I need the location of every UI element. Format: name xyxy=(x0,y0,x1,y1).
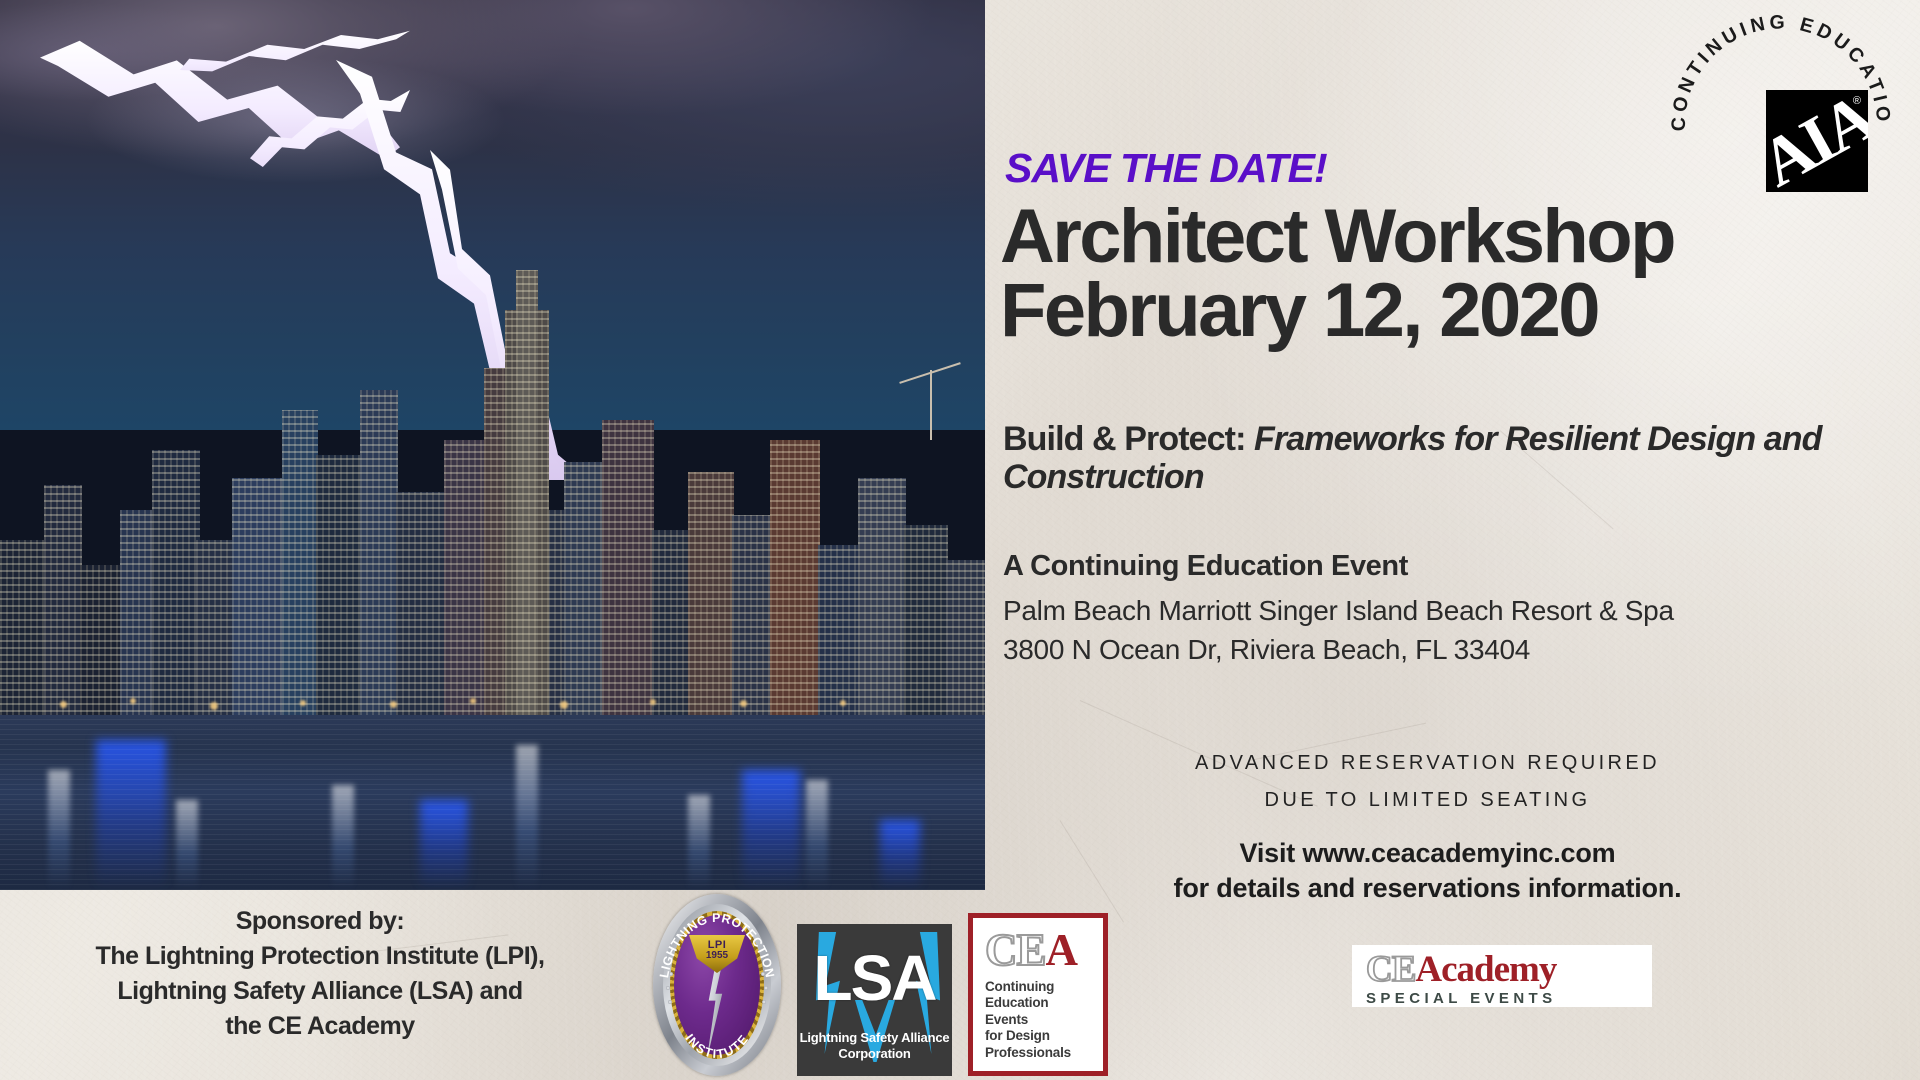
lpi-dot-decoration xyxy=(653,894,781,1076)
event-details-column: SAVE THE DATE! Architect Workshop Februa… xyxy=(1000,0,1880,890)
water-reflection xyxy=(0,715,985,890)
sponsor-line-2: Lightning Safety Alliance (LSA) and xyxy=(0,974,640,1009)
lsa-mark: LSA xyxy=(797,946,952,1010)
lsa-sub-line-2: Corporation xyxy=(797,1046,952,1062)
venue-name: Palm Beach Marriott Singer Island Beach … xyxy=(1003,592,1674,631)
reservation-notice: ADVANCED RESERVATION REQUIRED DUE TO LIM… xyxy=(1000,745,1855,819)
sponsor-line-1: The Lightning Protection Institute (LPI)… xyxy=(0,939,640,974)
lsa-logo: LSA Lightning Safety Alliance Corporatio… xyxy=(797,924,952,1076)
website-link[interactable]: Visit www.ceacademyinc.com xyxy=(1000,836,1855,871)
title-line-1: Architect Workshop xyxy=(1000,194,1674,279)
flyer-canvas: CONTINUING EDUCATION AIA ® SAVE THE DATE… xyxy=(0,0,1920,1080)
cea-sub-line-3: for Design xyxy=(985,1028,1093,1044)
ce-academy-tagline: SPECIAL EVENTS xyxy=(1366,990,1642,1007)
cea-mark-outline: CE xyxy=(985,925,1046,975)
save-the-date-eyebrow: SAVE THE DATE! xyxy=(1005,145,1327,192)
cea-sub-line-1: Continuing xyxy=(985,979,1093,995)
venue-address: 3800 N Ocean Dr, Riviera Beach, FL 33404 xyxy=(1003,631,1674,670)
sponsor-heading: Sponsored by: xyxy=(0,904,640,939)
ce-academy-mark-outline: CE xyxy=(1366,949,1415,990)
workshop-subtitle: Build & Protect: Frameworks for Resilien… xyxy=(1003,420,1863,496)
sponsor-line-3: the CE Academy xyxy=(0,1009,640,1044)
cea-sublabel: Continuing Education Events for Design P… xyxy=(985,979,1093,1061)
title-line-2: February 12, 2020 xyxy=(1000,274,1900,348)
lsa-sublabel: Lightning Safety Alliance Corporation xyxy=(797,1030,952,1063)
cea-mark: CEA xyxy=(985,928,1093,973)
event-type-label: A Continuing Education Event xyxy=(1003,550,1408,583)
lsa-sub-line-1: Lightning Safety Alliance xyxy=(797,1030,952,1046)
subtitle-lead: Build & Protect: xyxy=(1003,420,1254,458)
ce-academy-mark-solid: Academy xyxy=(1415,949,1556,990)
reservation-line-2: DUE TO LIMITED SEATING xyxy=(1000,782,1855,819)
reservation-line-1: ADVANCED RESERVATION REQUIRED xyxy=(1000,745,1855,782)
cea-sub-line-2: Education Events xyxy=(985,995,1093,1028)
ce-academy-mark: CEAcademy xyxy=(1366,951,1642,988)
city-skyline xyxy=(0,300,985,740)
venue-block: Palm Beach Marriott Singer Island Beach … xyxy=(1003,592,1674,669)
cea-logo: CEA Continuing Education Events for Desi… xyxy=(968,913,1108,1076)
cea-mark-solid: A xyxy=(1046,925,1078,975)
page-title: Architect Workshop February 12, 2020 xyxy=(1000,200,1900,349)
lpi-logo: LPI 1955 LIGHTNING PROTECTION INSTITUTE xyxy=(653,894,781,1076)
ce-academy-logo: CEAcademy SPECIAL EVENTS xyxy=(1352,945,1652,1007)
lightning-city-photo xyxy=(0,0,985,890)
sponsor-text-block: Sponsored by: The Lightning Protection I… xyxy=(0,904,640,1044)
cea-sub-line-4: Professionals xyxy=(985,1045,1093,1061)
sponsor-band: Sponsored by: The Lightning Protection I… xyxy=(0,890,1920,1080)
